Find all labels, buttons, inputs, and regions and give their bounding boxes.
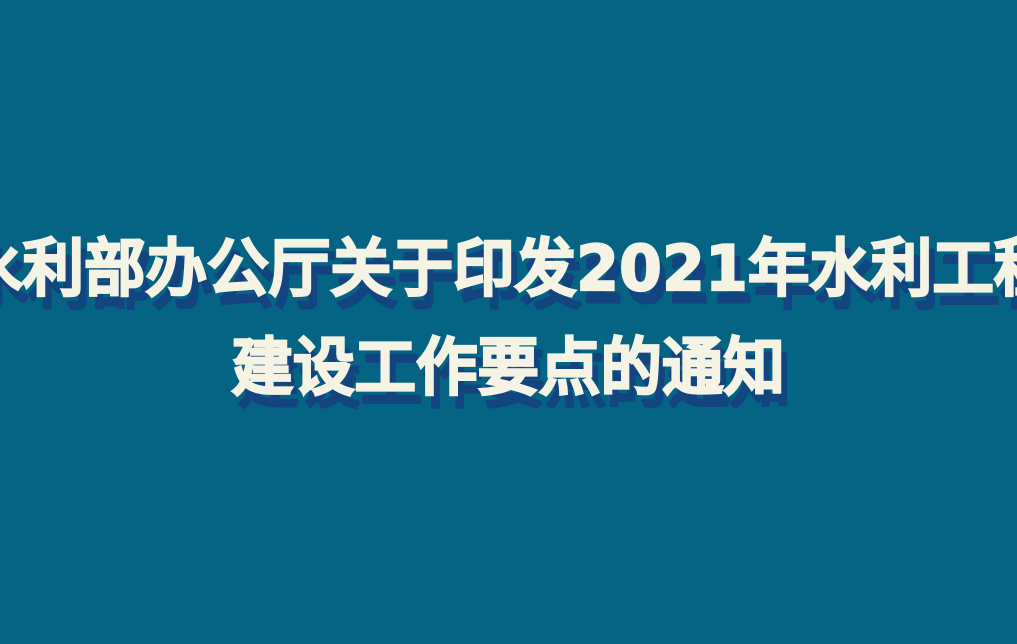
title-card: 水利部办公厅关于印发2021年水利工程 建设工作要点的通知 [0, 0, 1017, 644]
title-line-1: 水利部办公厅关于印发2021年水利工程 [0, 238, 1017, 300]
title-line-2: 建设工作要点的通知 [232, 337, 786, 399]
title-text-block: 水利部办公厅关于印发2021年水利工程 建设工作要点的通知 [0, 238, 1017, 398]
